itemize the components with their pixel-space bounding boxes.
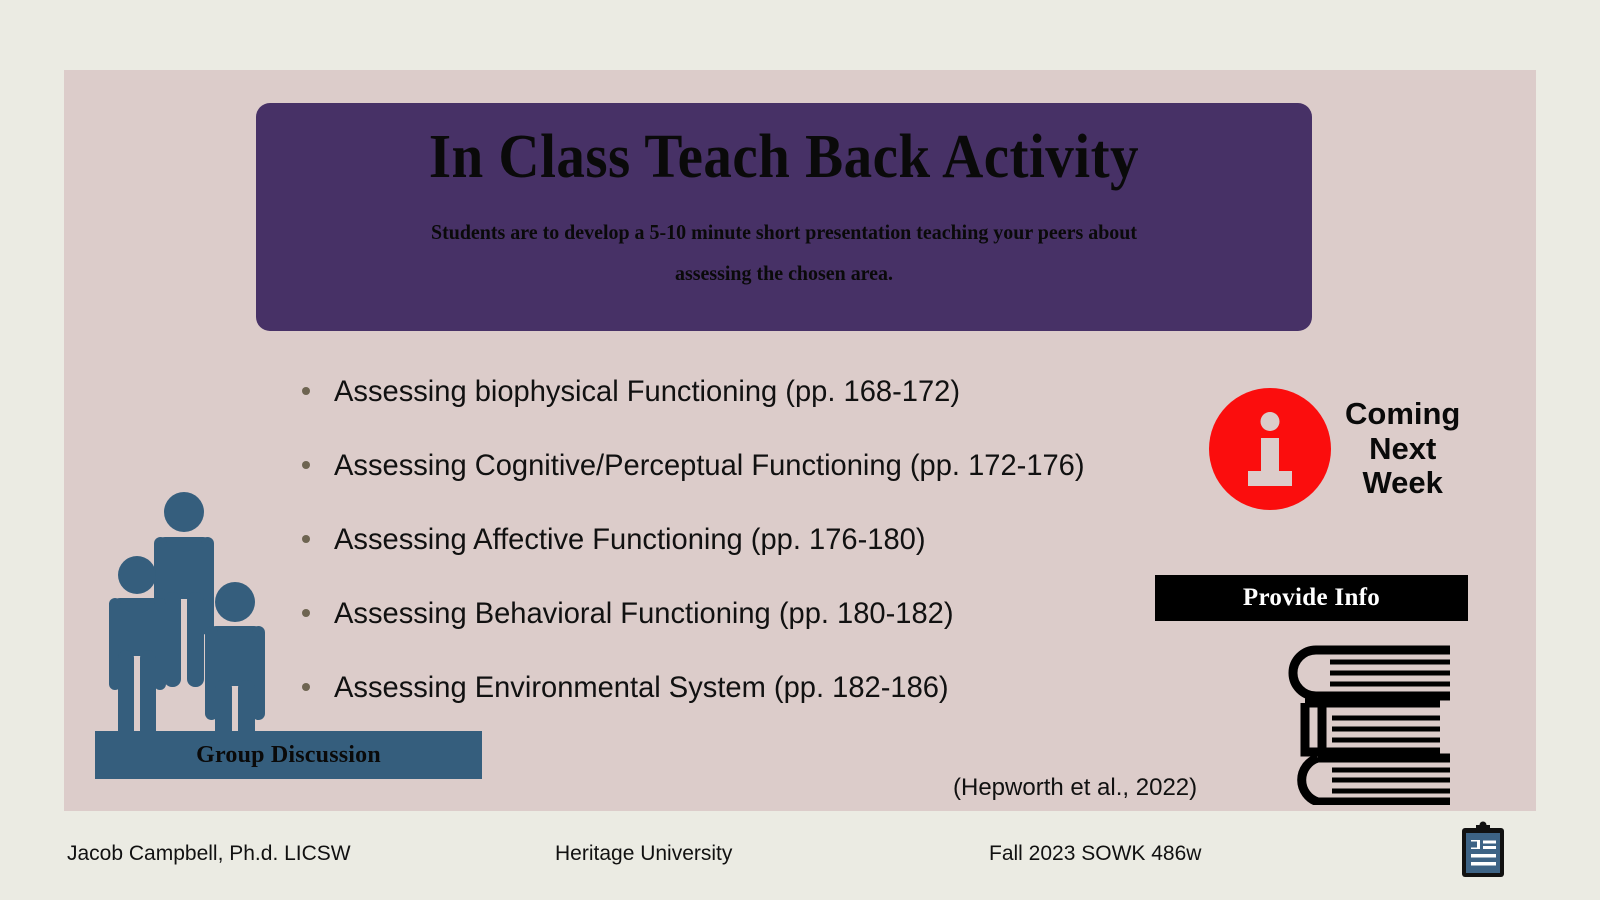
info-icon [1209, 388, 1331, 510]
people-group-icon [104, 490, 314, 745]
bullet-dot-icon [302, 461, 310, 469]
title-box: In Class Teach Back Activity Students ar… [256, 103, 1312, 331]
citation: (Hepworth et al., 2022) [953, 774, 1197, 802]
group-discussion-banner: Group Discussion [95, 731, 482, 779]
list-item: Assessing Cognitive/Perceptual Functioni… [302, 449, 1202, 482]
info-icon-dot [1261, 412, 1280, 431]
list-item: Assessing biophysical Functioning (pp. 1… [302, 375, 1202, 408]
coming-next-week-line-1: Coming [1345, 397, 1460, 432]
coming-next-week-line-3: Week [1345, 466, 1460, 501]
books-stack-icon [1280, 640, 1450, 805]
provide-info-label: Provide Info [1243, 584, 1380, 612]
coming-next-week-callout: Coming Next Week [1209, 388, 1460, 510]
list-item-label: Assessing Cognitive/Perceptual Functioni… [334, 449, 1085, 482]
group-discussion-label: Group Discussion [196, 742, 381, 769]
clipboard-icon[interactable] [1457, 821, 1509, 879]
coming-next-week-line-2: Next [1345, 432, 1460, 467]
footer-author: Jacob Campbell, Ph.d. LICSW [67, 842, 351, 866]
info-icon-base [1248, 471, 1292, 486]
provide-info-banner: Provide Info [1155, 575, 1468, 621]
page-title: In Class Teach Back Activity [429, 125, 1139, 190]
slide-subtitle: Students are to develop a 5-10 minute sh… [395, 212, 1174, 294]
list-item: Assessing Environmental System (pp. 182-… [302, 671, 1202, 704]
list-item: Assessing Behavioral Functioning (pp. 18… [302, 597, 1202, 630]
list-item-label: Assessing Behavioral Functioning (pp. 18… [334, 597, 954, 630]
list-item-label: Assessing Affective Functioning (pp. 176… [334, 523, 926, 556]
footer-organization: Heritage University [555, 842, 732, 866]
list-item: Assessing Affective Functioning (pp. 176… [302, 523, 1202, 556]
coming-next-week-label: Coming Next Week [1345, 397, 1460, 501]
slide-footer: Jacob Campbell, Ph.d. LICSW Heritage Uni… [0, 836, 1600, 900]
assessment-topics-list: Assessing biophysical Functioning (pp. 1… [302, 375, 1202, 745]
footer-course: Fall 2023 SOWK 486w [989, 842, 1201, 866]
slide-panel: In Class Teach Back Activity Students ar… [64, 70, 1536, 811]
list-item-label: Assessing Environmental System (pp. 182-… [334, 671, 949, 704]
list-item-label: Assessing biophysical Functioning (pp. 1… [334, 375, 960, 408]
bullet-dot-icon [302, 387, 310, 395]
